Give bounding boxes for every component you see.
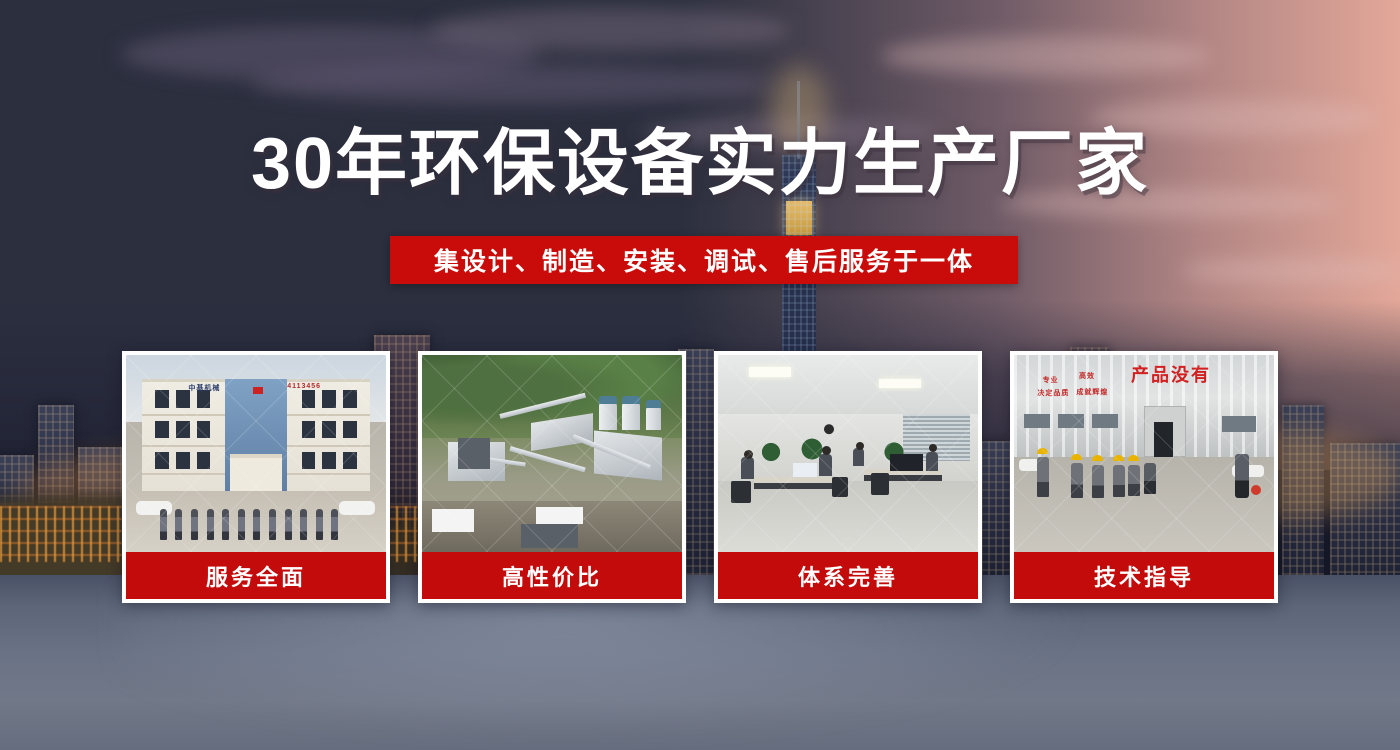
flag (253, 387, 263, 394)
factory-signage-large: 产品没有 (1131, 361, 1211, 387)
building-signage: 中基机械 (188, 383, 220, 393)
feature-card-list: 中基机械 4113456 服 (122, 351, 1278, 603)
feature-card-label: 技术指导 (1014, 552, 1274, 599)
cloud (1180, 258, 1400, 284)
factory-signage-small: 专业 (1043, 375, 1059, 385)
page-title: 30年环保设备实力生产厂家 (0, 128, 1400, 200)
cloud (250, 64, 770, 104)
feature-card-system[interactable]: 体系完善 (714, 351, 982, 603)
water-reflection (120, 590, 1100, 740)
subtitle-banner: 集设计、制造、安装、调试、售后服务于一体 (390, 236, 1018, 284)
feature-card-value[interactable]: 高性价比 (418, 351, 686, 603)
factory-signage-small: 高效 (1079, 371, 1095, 381)
wall-logo (812, 416, 846, 438)
feature-card-label: 体系完善 (718, 552, 978, 599)
building-phone-number: 4113456 (287, 383, 321, 390)
feature-card-guidance[interactable]: 产品没有 专业 高效 决定品质 成就辉煌 (1010, 351, 1278, 603)
factory-signage-small: 成就辉煌 (1076, 387, 1108, 397)
skyline-building (1330, 443, 1400, 575)
cloud (880, 36, 1210, 76)
feature-card-label: 高性价比 (422, 552, 682, 599)
skyline-building (1282, 405, 1324, 575)
workshop-workers-photo: 产品没有 专业 高效 决定品质 成就辉煌 (1014, 355, 1274, 552)
hero-banner: 30年环保设备实力生产厂家 集设计、制造、安装、调试、售后服务于一体 (0, 0, 1400, 750)
cloud (430, 8, 790, 52)
production-plant-aerial-photo (422, 355, 682, 552)
feature-card-service[interactable]: 中基机械 4113456 服 (122, 351, 390, 603)
office-interior-photo (718, 355, 978, 552)
factory-signage-small: 决定品质 (1037, 388, 1069, 398)
feature-card-label: 服务全面 (126, 552, 386, 599)
tower-crown-light (786, 201, 812, 235)
company-headquarters-photo: 中基机械 4113456 (126, 355, 386, 552)
